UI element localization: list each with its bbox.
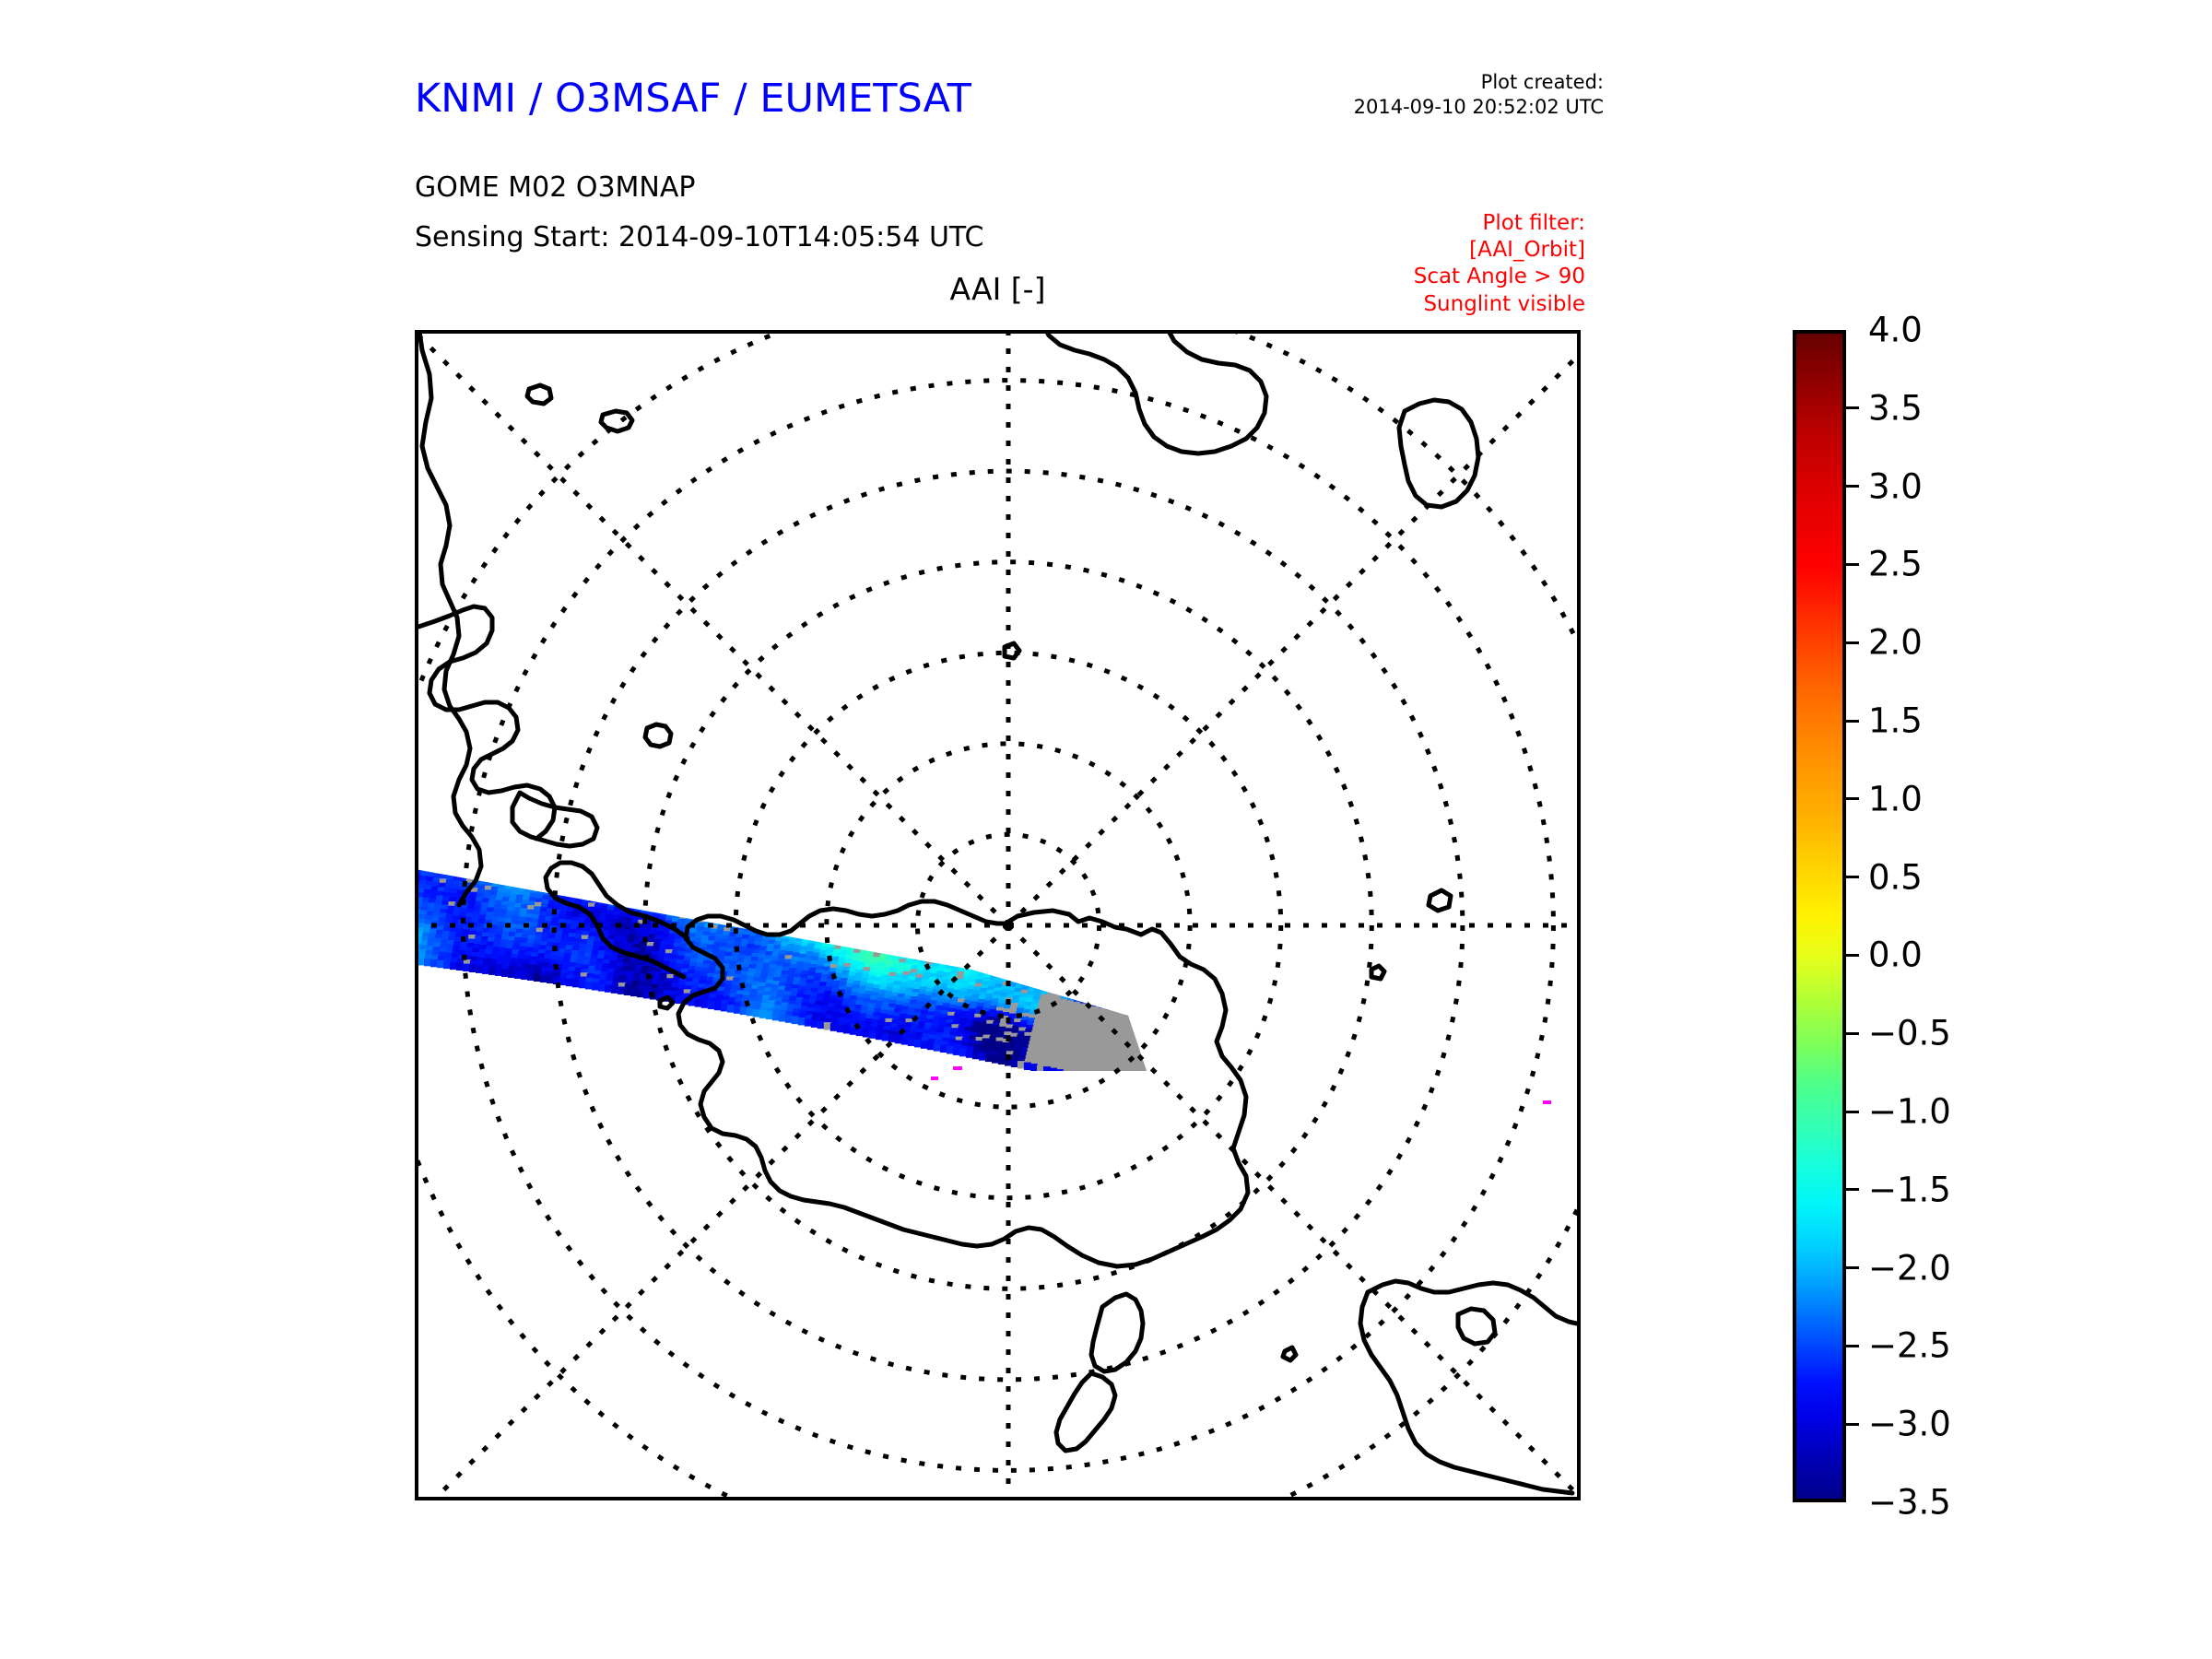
plot-filter-label: Plot filter: [1414, 210, 1585, 237]
swath-pixel [490, 856, 498, 864]
swath-pixel [975, 925, 982, 933]
swath-pixel [726, 883, 734, 890]
swath-pixel [454, 868, 462, 876]
swath-pixel [733, 884, 740, 891]
swath-pixel [690, 864, 698, 871]
swath-pixel [717, 898, 724, 905]
swath-pixel [425, 851, 432, 858]
swath-pixel [532, 851, 539, 858]
swath-pixel [654, 906, 662, 913]
swath-pixel [1056, 1069, 1064, 1077]
swath-pixel [818, 930, 825, 937]
swath-pixel [526, 879, 534, 887]
swath-pixel [771, 896, 779, 903]
swath-pixel [1096, 989, 1103, 996]
swath-pixel [668, 904, 676, 912]
swath-pixel [900, 927, 907, 935]
swath-pixel [1140, 1033, 1147, 1041]
swath-pixel [453, 846, 460, 853]
swath-pixel [941, 952, 948, 959]
swath-pixel [921, 924, 928, 932]
swath-pixel [468, 865, 476, 873]
swath-pixel [458, 852, 465, 859]
swath-pixel [794, 912, 802, 920]
swath-pixel [571, 888, 579, 895]
swath-pixel [535, 865, 543, 872]
swath-pixel [1137, 1073, 1145, 1080]
swath-pixel [723, 870, 730, 877]
swath-pixel [794, 885, 801, 892]
swath-pixel [995, 953, 1003, 960]
swath-pixel [456, 860, 464, 867]
swath-pixel [655, 902, 663, 910]
colorbar-tick [1846, 954, 1859, 957]
swath-pixel [496, 862, 503, 869]
swath-pixel [1143, 967, 1150, 974]
swath-pixel [1114, 1001, 1122, 1008]
swath-pixel [864, 904, 871, 912]
swath-pixel [487, 843, 494, 851]
swath-pixel [1122, 999, 1129, 1006]
swath-pixel [559, 847, 567, 854]
swath-pixel [1147, 1006, 1155, 1013]
swath-pixel [459, 847, 466, 854]
swath-pixel [613, 848, 620, 855]
swath-pixel [1136, 1077, 1144, 1084]
swath-pixel [754, 880, 761, 888]
swath-pixel [829, 912, 836, 920]
swath-pixel [1153, 1036, 1160, 1043]
swath-pixel [742, 874, 749, 881]
swath-pixel [676, 869, 683, 877]
swath-pixel [973, 959, 981, 967]
swath-pixel [664, 895, 671, 902]
swath-pixel [695, 905, 702, 912]
swath-pixel [826, 891, 833, 899]
swath-pixel [484, 855, 491, 863]
swath-pixel [449, 829, 456, 836]
swath-pixel [1044, 949, 1052, 957]
coastline-macquarie [1283, 1347, 1296, 1360]
swath-pixel [422, 832, 429, 840]
swath-pixel [432, 847, 440, 854]
swath-pixel [445, 849, 453, 856]
swath-pixel [418, 831, 423, 839]
swath-pixel [431, 852, 439, 859]
swath-pixel [1111, 959, 1118, 966]
swath-pixel [641, 871, 649, 878]
swath-pixel [612, 853, 619, 860]
swath-pixel [482, 829, 489, 837]
swath-pixel [638, 857, 645, 865]
swath-pixel [511, 855, 518, 863]
swath-pixel [438, 818, 445, 825]
swath-pixel [593, 849, 600, 856]
swath-pixel [1076, 1074, 1083, 1081]
swath-pixel [937, 940, 945, 947]
swath-pixel [659, 882, 666, 889]
swath-pixel [502, 829, 510, 836]
swath-pixel [481, 833, 488, 841]
swath-pixel [510, 860, 517, 867]
swath-pixel [507, 842, 514, 850]
colorbar-tick-label: −2.5 [1868, 1329, 1951, 1363]
swath-pixel [1058, 949, 1065, 957]
swath-pixel [614, 874, 621, 881]
swath-pixel [805, 895, 812, 902]
swath-pixel [1052, 974, 1059, 982]
swath-pixel [981, 958, 988, 965]
swath-pixel [670, 897, 677, 904]
swath-pixel [701, 874, 709, 881]
swath-pixel [1150, 1020, 1158, 1028]
swath-pixel [920, 928, 927, 935]
swath-pixel [711, 896, 718, 903]
swath-pixel [1168, 977, 1175, 984]
swath-pixel [435, 865, 442, 873]
swath-pixel [1127, 1004, 1135, 1011]
swath-pixel [609, 865, 617, 872]
swath-pixel [720, 882, 727, 889]
swath-pixel [830, 933, 838, 940]
map-plot-area[interactable] [415, 330, 1581, 1500]
swath-pixel [617, 895, 624, 902]
swath-pixel [590, 861, 597, 868]
swath-pixel [1054, 963, 1062, 971]
swath-pixel [1009, 953, 1017, 960]
swath-pixel [1116, 990, 1124, 997]
swath-pixel [989, 952, 996, 959]
swath-pixel [903, 940, 911, 947]
swath-pixel [947, 930, 954, 937]
swath-pixel [433, 843, 441, 851]
swath-pixel [488, 869, 495, 877]
swath-pixel [483, 860, 490, 867]
swath-pixel [1090, 983, 1098, 991]
swath-pixel [942, 948, 949, 956]
swath-pixel [901, 920, 909, 927]
swath-pixel [1140, 1088, 1147, 1096]
swath-pixel [901, 947, 909, 955]
swath-pixel [1098, 956, 1105, 963]
swath-pixel [1154, 1006, 1161, 1014]
swath-pixel [683, 866, 690, 874]
swath-pixel [963, 946, 971, 953]
swath-pixel [759, 889, 766, 897]
swath-pixel [699, 886, 706, 893]
swath-pixel [572, 850, 580, 857]
swath-pixel [527, 871, 535, 878]
swath-pixel [784, 895, 792, 902]
swath-pixel [973, 933, 981, 940]
swath-pixel [667, 876, 675, 883]
swath-pixel [704, 895, 712, 902]
swath-pixel [1167, 981, 1174, 988]
swath-pixel [946, 934, 953, 941]
swath-pixel [1124, 962, 1131, 970]
swath-pixel [1152, 984, 1159, 992]
swath-pixel [979, 937, 986, 945]
swath-pixel [729, 871, 736, 878]
swath-pixel [747, 883, 754, 890]
swath-pixel [470, 857, 477, 865]
swath-pixel [1033, 966, 1041, 973]
swath-pixel [934, 955, 941, 962]
swath-pixel [657, 894, 665, 901]
swath-pixel [688, 876, 695, 883]
swath-pixel [595, 866, 603, 874]
swath-pixel [844, 931, 852, 938]
swath-pixel [501, 867, 509, 875]
swath-pixel [607, 873, 615, 880]
plot-created-label: Plot created: [1354, 70, 1604, 95]
swath-pixel [857, 934, 865, 941]
swath-pixel [635, 869, 642, 877]
swath-pixel [656, 865, 664, 873]
swath-pixel [1146, 1012, 1153, 1019]
swath-pixel [1142, 1000, 1149, 1007]
swath-pixel [662, 903, 669, 911]
coastline-chile-west [418, 606, 555, 839]
swath-pixel [1084, 1068, 1091, 1076]
swath-pixel [567, 874, 574, 881]
swath-pixel [764, 899, 771, 906]
swath-pixel [525, 850, 533, 857]
swath-pixel [626, 880, 633, 888]
swath-pixel [599, 850, 606, 857]
swath-pixel [881, 920, 888, 927]
swath-pixel [857, 902, 865, 910]
swath-pixel [683, 899, 690, 906]
swath-pixel [441, 831, 449, 839]
swath-pixel [847, 920, 854, 927]
swath-pixel [454, 838, 462, 845]
swath-pixel [1085, 952, 1092, 959]
swath-pixel [1113, 974, 1121, 982]
swath-pixel [858, 930, 865, 937]
swath-pixel [1055, 960, 1063, 968]
swath-pixel [666, 879, 674, 887]
swath-pixel [754, 912, 761, 920]
swath-pixel [431, 817, 439, 824]
swath-pixel [1033, 939, 1041, 947]
swath-pixel [418, 818, 426, 826]
swath-pixel [722, 874, 729, 881]
swath-pixel [569, 865, 576, 873]
swath-pixel [884, 935, 891, 943]
swath-pixel [892, 930, 900, 937]
swath-pixel [864, 935, 871, 943]
swath-pixel [688, 908, 695, 915]
swath-pixel [768, 912, 775, 919]
swath-pixel [1143, 1022, 1150, 1030]
swath-pixel [879, 927, 887, 935]
colorbar-tick-label: 2.5 [1868, 547, 1923, 582]
swath-pixel [1097, 959, 1104, 966]
swath-pixel [520, 875, 527, 882]
swath-pixel [534, 872, 541, 879]
swath-pixel [1024, 948, 1031, 956]
coastline-new-zealand-south [1056, 1373, 1115, 1451]
swath-pixel [835, 913, 842, 921]
swath-pixel [707, 879, 714, 887]
swath-pixel [626, 884, 633, 891]
swath-pixel [1156, 971, 1163, 978]
swath-pixel [434, 839, 441, 846]
swath-pixel [524, 853, 532, 861]
swath-pixel [875, 946, 882, 953]
swath-pixel [661, 875, 668, 882]
swath-pixel [935, 920, 943, 927]
swath-pixel [747, 915, 754, 923]
swath-pixel [905, 933, 912, 940]
swath-pixel [1152, 1014, 1159, 1021]
swath-pixel [623, 896, 630, 903]
swath-pixel [1045, 946, 1053, 953]
swath-pixel [921, 952, 928, 959]
colorbar-tick [1846, 720, 1859, 723]
swath-pixel [649, 900, 656, 908]
swath-pixel [1137, 1018, 1145, 1025]
swath-pixel [703, 899, 711, 906]
swath-pixel [681, 874, 688, 881]
colorbar-gradient [1793, 330, 1846, 1502]
swath-pixel [552, 884, 559, 891]
swath-pixel [505, 851, 512, 858]
swath-pixel [736, 901, 744, 909]
swath-pixel [440, 844, 447, 852]
swath-pixel [574, 871, 582, 878]
swath-pixel [1094, 970, 1101, 977]
swath-pixel [423, 859, 430, 866]
swath-pixel [679, 882, 687, 889]
swath-pixel [766, 887, 773, 894]
swath-pixel [1121, 1002, 1128, 1009]
swath-pixel [547, 845, 554, 853]
swath-pixel [571, 853, 579, 861]
swath-pixel [982, 954, 989, 961]
swath-pixel [665, 883, 673, 890]
swath-pixel [987, 959, 994, 967]
swath-pixel [616, 865, 623, 873]
swath-pixel [1068, 963, 1076, 971]
plot-filter-sunglint: Sunglint visible [1414, 291, 1585, 318]
swath-pixel [1155, 974, 1162, 982]
swath-pixel [1147, 1034, 1154, 1041]
swath-pixel [998, 970, 1006, 977]
swath-pixel [998, 942, 1006, 949]
swath-pixel [1011, 946, 1018, 953]
swath-pixel [1142, 1081, 1149, 1088]
swath-pixel [1032, 943, 1040, 950]
swath-pixel [1060, 969, 1067, 976]
swath-pixel [520, 878, 527, 886]
swath-pixel [422, 863, 429, 870]
swath-pixel [1163, 994, 1171, 1002]
swath-pixel [1088, 1077, 1096, 1084]
swath-pixel [1050, 1068, 1057, 1076]
swath-pixel [1100, 1001, 1108, 1008]
swath-pixel [743, 902, 750, 910]
swath-pixel [947, 954, 955, 961]
colorbar[interactable]: 4.03.53.02.52.01.51.00.50.0−0.5−1.0−1.5−… [1793, 330, 1846, 1502]
swath-pixel [629, 898, 637, 905]
swath-pixel [457, 855, 465, 863]
swath-pixel [421, 837, 429, 844]
swath-pixel [877, 938, 884, 946]
swath-pixel [832, 893, 840, 900]
swath-pixel [1161, 1005, 1169, 1012]
swath-pixel [1099, 978, 1106, 985]
swath-pixel [1159, 982, 1167, 990]
swath-pixel [529, 863, 536, 870]
swath-pixel [1143, 1049, 1150, 1056]
swath-pixel [639, 887, 646, 894]
swath-pixel [972, 963, 980, 971]
swath-pixel [601, 871, 608, 878]
swath-pixel [1018, 947, 1025, 954]
swath-pixel [682, 870, 689, 877]
swath-pixel [444, 818, 452, 826]
swath-pixel [514, 869, 522, 877]
swath-pixel [1141, 1004, 1148, 1011]
swath-pixel [979, 965, 986, 972]
swath-pixel [1112, 982, 1119, 989]
swath-pixel [1037, 982, 1044, 989]
swath-pixel [1077, 954, 1085, 961]
swath-pixel [1057, 953, 1065, 960]
swath-pixel [1138, 984, 1146, 992]
swath-pixel [585, 886, 593, 893]
swath-pixel [771, 892, 779, 900]
colorbar-tick-label: −3.0 [1868, 1407, 1951, 1441]
swath-pixel [1059, 946, 1066, 953]
swath-pixel [745, 895, 752, 902]
swath-pixel [846, 924, 853, 931]
swath-pixel [665, 858, 672, 865]
swath-pixel [539, 848, 547, 855]
swath-pixel [439, 848, 446, 855]
swath-pixel [1032, 970, 1040, 977]
swath-pixel [1120, 1006, 1127, 1013]
swath-pixel [573, 879, 581, 887]
swath-pixel [1104, 1069, 1112, 1077]
swath-pixel [1088, 968, 1095, 975]
swath-pixel [1067, 967, 1075, 974]
swath-pixel [702, 870, 710, 877]
swath-pixel [619, 879, 627, 887]
swath-pixel [932, 935, 939, 942]
sensing-start-line: Sensing Start: 2014-09-10T14:05:54 UTC [415, 221, 983, 253]
swath-pixel [964, 942, 971, 949]
swath-pixel [851, 933, 858, 940]
swath-pixel [1093, 973, 1100, 981]
swath-pixel [553, 880, 560, 888]
swath-pixel [533, 880, 540, 888]
swath-pixel [1023, 952, 1030, 959]
swath-pixel [538, 852, 546, 859]
swath-pixel [1065, 977, 1072, 984]
swath-pixel [587, 843, 594, 851]
swath-pixel [1108, 1081, 1115, 1088]
swath-pixel [677, 898, 684, 905]
swath-pixel [488, 839, 495, 846]
swath-pixel [603, 864, 610, 871]
swath-pixel [882, 944, 889, 951]
swath-pixel [1072, 949, 1079, 957]
swath-pixel [1126, 978, 1134, 985]
swath-pixel [611, 890, 618, 898]
